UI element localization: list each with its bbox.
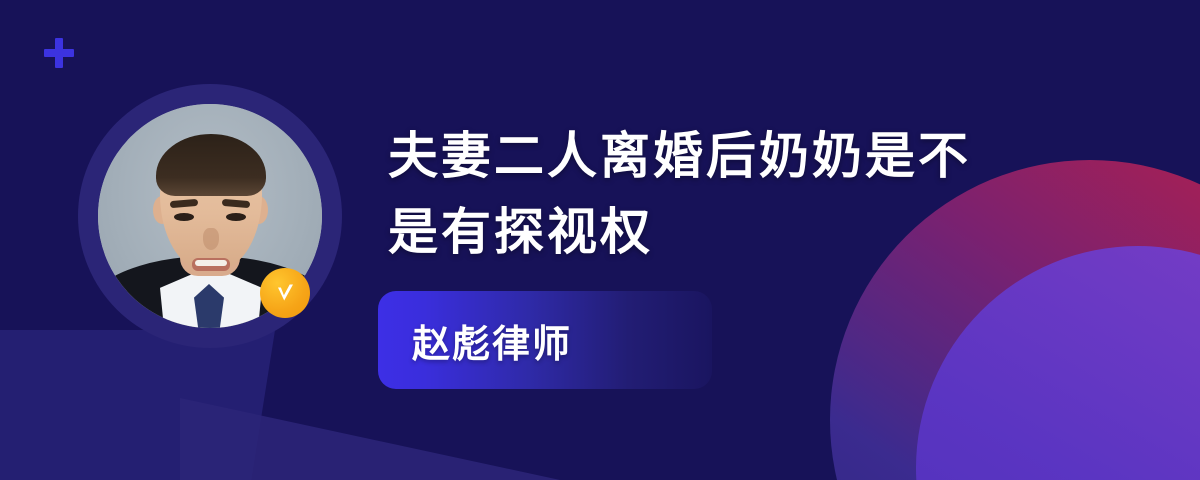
lawyer-name-chip[interactable]: 赵彪律师 (378, 291, 712, 389)
lawyer-name-label: 赵彪律师 (378, 313, 572, 368)
page-title: 夫妻二人离婚后奶奶是不 是有探视权 (388, 118, 1088, 270)
verified-check-icon (260, 268, 310, 318)
avatar[interactable] (78, 84, 342, 348)
headline-block: 夫妻二人离婚后奶奶是不 是有探视权 (388, 118, 1088, 270)
plus-icon (44, 38, 74, 68)
video-cover-card: 夫妻二人离婚后奶奶是不 是有探视权 赵彪律师 (0, 0, 1200, 480)
